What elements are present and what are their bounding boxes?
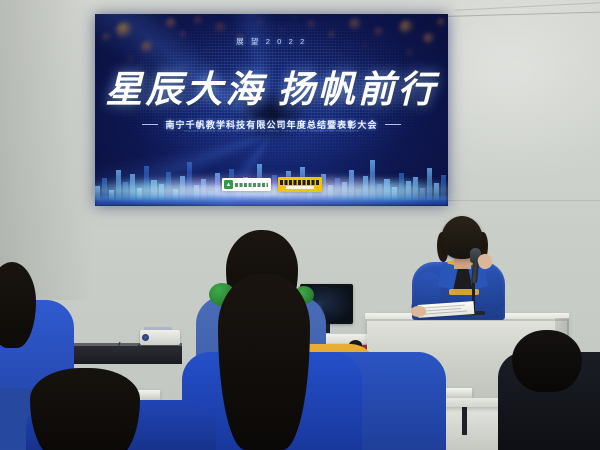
slide-city-skyline bbox=[95, 144, 448, 206]
bokeh-light bbox=[399, 20, 414, 35]
slide-subtitle-dash-right bbox=[385, 124, 401, 125]
slide-subtitle-dash-left bbox=[142, 124, 158, 125]
slide-partner-logos: ▲ bbox=[95, 177, 448, 192]
partner-logo-green: ▲ bbox=[222, 178, 271, 191]
bokeh-light bbox=[279, 27, 286, 34]
projector-lens-icon bbox=[142, 334, 149, 341]
bokeh-light bbox=[349, 18, 362, 31]
partner-logo-yellow-tagline bbox=[286, 186, 314, 189]
wall-shadow-left bbox=[0, 0, 95, 300]
attendee-right-hair bbox=[512, 330, 582, 392]
partner-logo-yellow bbox=[278, 177, 322, 192]
partner-logo-green-wordmark bbox=[235, 183, 268, 187]
slide-main-title: 星辰大海 扬帆前行 bbox=[95, 59, 448, 113]
attendee-front-left-hair bbox=[30, 368, 140, 450]
bokeh-light bbox=[307, 20, 317, 30]
skyline-baseline bbox=[95, 196, 448, 206]
projection-screen: 展 望 2 0 2 2 星辰大海 扬帆前行 南宁千帆教学科技有限公司年度总结暨表… bbox=[95, 14, 448, 206]
leaf-icon: ▲ bbox=[224, 180, 233, 189]
slide-eyebrow-text: 展 望 2 0 2 2 bbox=[95, 36, 448, 47]
bokeh-light bbox=[406, 49, 414, 57]
bokeh-light bbox=[166, 18, 177, 29]
attendee-front-center-hair bbox=[218, 274, 310, 450]
bokeh-light bbox=[194, 16, 203, 25]
presenter-hand-left bbox=[411, 306, 426, 317]
conference-room-photo: 展 望 2 0 2 2 星辰大海 扬帆前行 南宁千帆教学科技有限公司年度总结暨表… bbox=[0, 0, 600, 450]
bokeh-light bbox=[215, 22, 227, 34]
partner-logo-yellow-wordmark bbox=[280, 180, 320, 185]
slide-subtitle-english: NANNING QIANFAN JIAOXUE KEJI CORPORATION… bbox=[95, 130, 448, 133]
wall-seam bbox=[430, 200, 600, 201]
bokeh-light bbox=[293, 16, 299, 22]
